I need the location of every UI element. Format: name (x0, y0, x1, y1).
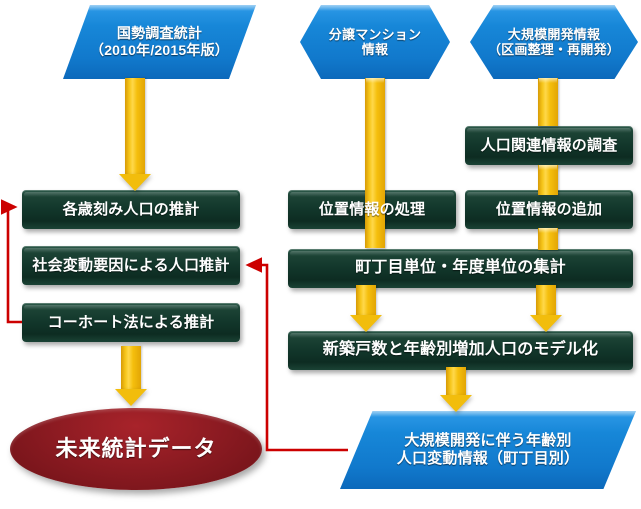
source-census[interactable]: 国勢調査統計 （2010年/2015年版） (63, 5, 256, 79)
process-modeling[interactable]: 新築戸数と年齢別増加人口のモデル化 (288, 331, 633, 370)
process-population-survey[interactable]: 人口関連情報の調査 (465, 126, 633, 165)
source-condominium-label: 分譲マンション 情報 (329, 27, 421, 58)
feedback-arrow-cohort-to-age-estimate (8, 207, 22, 322)
source-development-label: 大規模開発情報 （区画整理・再開発） (488, 27, 620, 58)
arrow-census-to-age-estimate (113, 78, 157, 193)
flowchart-canvas: 国勢調査統計 （2010年/2015年版） 分譲マンション 情報 大規模開発情報… (0, 0, 641, 509)
process-age-step-estimate[interactable]: 各歳刻み人口の推計 (22, 190, 240, 229)
bar-development-to-survey (538, 78, 558, 126)
bar-survey-to-location-add (538, 165, 558, 195)
source-census-label: 国勢調査統計 （2010年/2015年版） (90, 25, 229, 58)
process-social-factor[interactable]: 社会変動要因による人口推計 (22, 246, 240, 285)
bar-condominium-to-aggregation (365, 78, 385, 248)
process-aggregation-label: 町丁目単位・年度単位の集計 (355, 259, 566, 278)
arrow-aggregation-to-modeling-left (344, 285, 388, 333)
process-location-add[interactable]: 位置情報の追加 (465, 190, 633, 229)
arrow-cohort-to-future-stats (109, 346, 153, 408)
process-cohort-method-label: コーホート法による推計 (48, 314, 215, 332)
source-development[interactable]: 大規模開発情報 （区画整理・再開発） (470, 5, 638, 79)
source-condominium[interactable]: 分譲マンション 情報 (300, 5, 450, 79)
arrow-modeling-to-dev-pop-change (434, 367, 478, 417)
process-modeling-label: 新築戸数と年齢別増加人口のモデル化 (323, 341, 598, 360)
arrow-aggregation-to-modeling-right (524, 285, 568, 333)
bar-location-add-to-aggregation (538, 228, 558, 250)
output-dev-pop-change-label: 大規模開発に伴う年齢別 人口変動情報（町丁目別） (397, 432, 579, 467)
output-future-stats-label: 未来統計データ (55, 436, 216, 462)
process-population-survey-label: 人口関連情報の調査 (481, 137, 618, 155)
process-age-step-estimate-label: 各歳刻み人口の推計 (63, 201, 200, 219)
process-social-factor-label: 社会変動要因による人口推計 (32, 257, 229, 275)
output-dev-pop-change[interactable]: 大規模開発に伴う年齢別 人口変動情報（町丁目別） (340, 411, 636, 489)
process-aggregation[interactable]: 町丁目単位・年度単位の集計 (288, 249, 633, 288)
process-cohort-method[interactable]: コーホート法による推計 (22, 303, 240, 342)
output-future-stats[interactable]: 未来統計データ (10, 408, 262, 490)
process-location-add-label: 位置情報の追加 (496, 201, 602, 219)
